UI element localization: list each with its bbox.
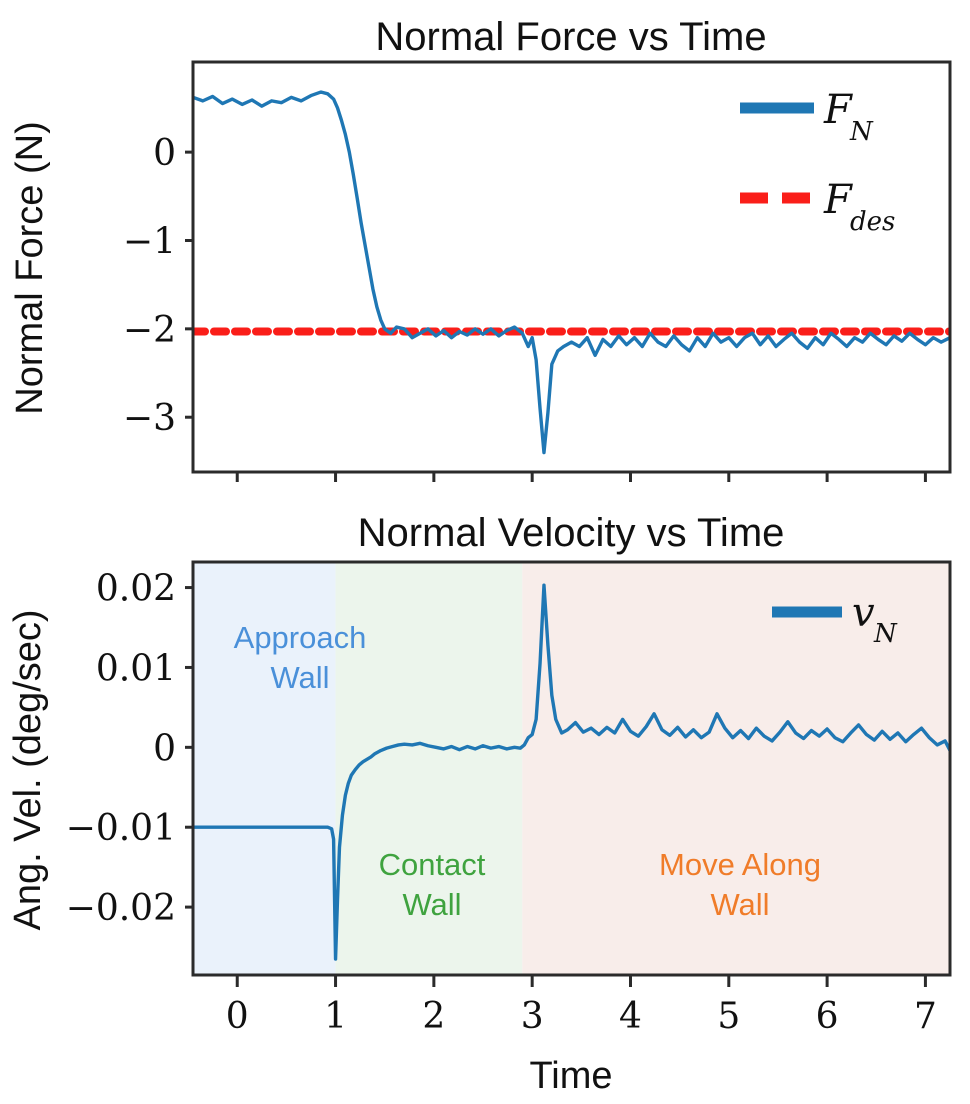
velocity-x-tick-label: 2 bbox=[422, 996, 445, 1037]
velocity-y-tick-label: 0.02 bbox=[96, 569, 176, 610]
velocity-x-ticks: 01234567 bbox=[226, 975, 937, 1037]
velocity-plot-title: Normal Velocity vs Time bbox=[358, 511, 785, 555]
velocity-y-axis-label: Ang. Vel. (deg/sec) bbox=[7, 609, 49, 930]
velocity-y-tick-label: 0.01 bbox=[96, 648, 176, 689]
normal-force-panel: Normal Force vs Time Normal Force (N) 0−… bbox=[0, 0, 970, 500]
force-legend: FNFdes bbox=[716, 66, 948, 238]
velocity-x-axis-label: Time bbox=[529, 1055, 612, 1097]
velocity-x-tick-label: 6 bbox=[816, 996, 839, 1037]
force-y-tick-label: 0 bbox=[153, 133, 176, 174]
legend-vn-subscript: N bbox=[873, 619, 898, 649]
force-plot-title: Normal Force vs Time bbox=[375, 15, 766, 59]
velocity-plot-area: ApproachWallContactWallMove AlongWall 0.… bbox=[66, 562, 950, 1037]
force-y-axis-label: Normal Force (N) bbox=[9, 121, 51, 414]
velocity-y-tick-label: −0.01 bbox=[66, 808, 176, 849]
force-y-tick-label: −3 bbox=[123, 398, 176, 439]
normal-velocity-panel: Normal Velocity vs Time Ang. Vel. (deg/s… bbox=[0, 500, 970, 1104]
normal-velocity-svg: Normal Velocity vs Time Ang. Vel. (deg/s… bbox=[0, 500, 970, 1104]
velocity-x-tick-label: 1 bbox=[324, 996, 347, 1037]
force-y-tick-label: −1 bbox=[123, 221, 176, 262]
legend-fn-subscript: N bbox=[849, 117, 874, 147]
force-y-ticks: 0−1−2−3 bbox=[123, 133, 193, 439]
region-label-contact-wall-line1: Contact bbox=[379, 847, 486, 882]
region-label-contact-wall-line2: Wall bbox=[402, 887, 461, 922]
velocity-x-tick-label: 7 bbox=[914, 996, 937, 1037]
region-label-move-along-wall-line2: Wall bbox=[710, 887, 769, 922]
region-label-approach-wall-line1: Approach bbox=[234, 620, 367, 655]
velocity-x-tick-label: 0 bbox=[226, 996, 249, 1037]
force-y-tick-label: −2 bbox=[123, 310, 176, 351]
region-label-approach-wall-line2: Wall bbox=[270, 660, 329, 695]
velocity-x-tick-label: 5 bbox=[717, 996, 740, 1037]
velocity-x-tick-label: 4 bbox=[619, 996, 642, 1037]
normal-force-svg: Normal Force vs Time Normal Force (N) 0−… bbox=[0, 0, 970, 500]
velocity-y-tick-label: −0.02 bbox=[66, 888, 176, 929]
velocity-y-tick-label: 0 bbox=[153, 728, 176, 769]
velocity-x-tick-label: 3 bbox=[521, 996, 544, 1037]
legend-fn-label: F bbox=[823, 87, 853, 133]
region-label-move-along-wall-line1: Move Along bbox=[659, 847, 821, 882]
legend-fdes-subscript: des bbox=[850, 207, 895, 237]
legend-fdes-label: F bbox=[823, 177, 853, 223]
figure-root: Normal Force vs Time Normal Force (N) 0−… bbox=[0, 0, 970, 1104]
legend-vn-label: v bbox=[852, 590, 875, 636]
velocity-y-ticks: 0.020.010−0.01−0.02 bbox=[66, 569, 193, 930]
